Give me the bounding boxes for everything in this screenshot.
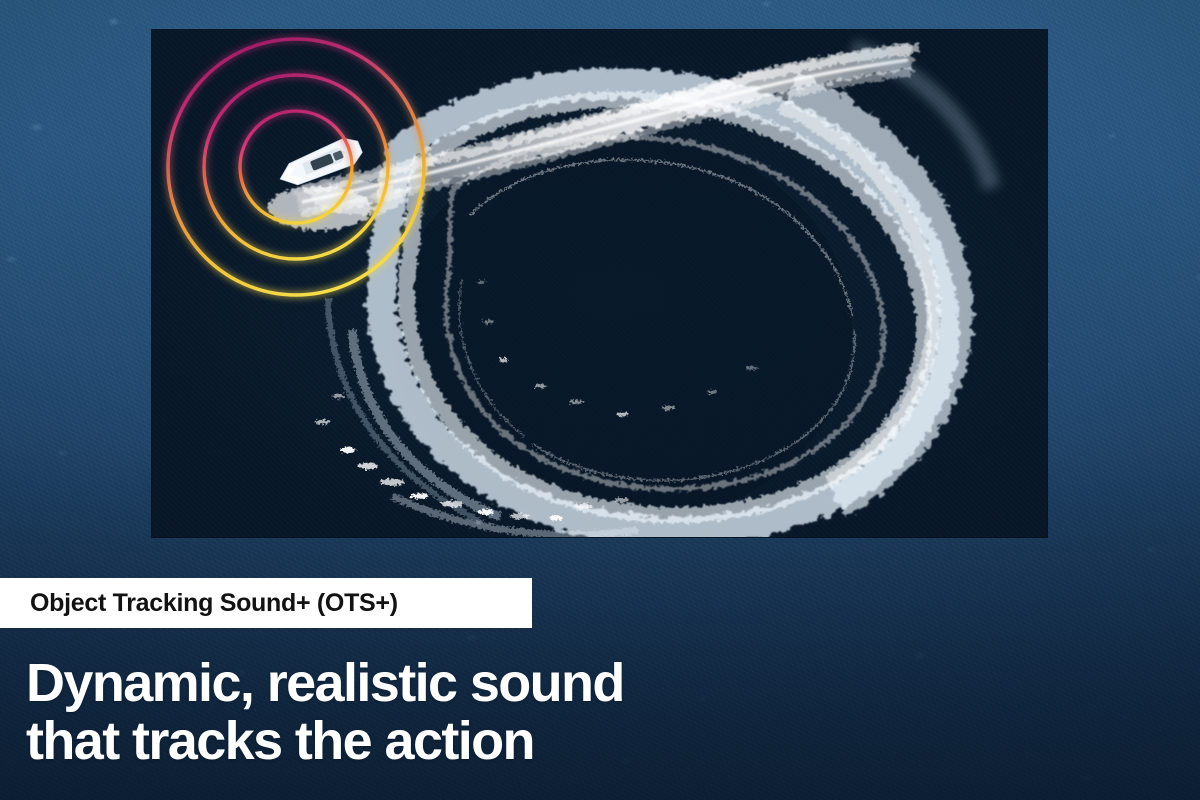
boat-wake-illustration: [152, 30, 1047, 537]
headline: Dynamic, realistic sound that tracks the…: [26, 655, 786, 771]
headline-line-1: Dynamic, realistic sound: [26, 655, 786, 713]
promo-banner: Object Tracking Sound+ (OTS+) Dynamic, r…: [0, 0, 1200, 800]
headline-line-2: that tracks the action: [26, 713, 786, 771]
feature-badge: Object Tracking Sound+ (OTS+): [0, 578, 532, 628]
feature-badge-label: Object Tracking Sound+ (OTS+): [0, 589, 398, 618]
media-panel: [152, 30, 1047, 537]
